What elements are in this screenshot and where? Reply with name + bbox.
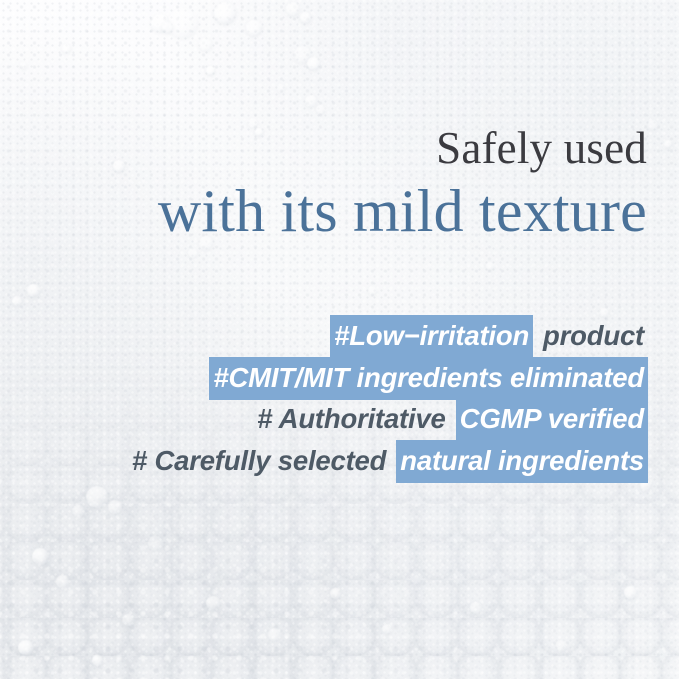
foam-bubble	[294, 46, 311, 63]
foam-bubble	[277, 84, 285, 92]
foam-bubble	[470, 602, 482, 614]
foam-bubble	[168, 8, 198, 38]
highlighted-text-segment: #Low−irritation	[330, 315, 533, 358]
foam-bubble	[307, 57, 320, 70]
foam-bubble	[556, 640, 567, 651]
bullet-line-cmit-mit-eliminated: #CMIT/MIT ingredients eliminated	[128, 364, 648, 392]
foam-bubble	[368, 286, 377, 295]
foam-bubble	[20, 62, 27, 69]
foam-bubble	[113, 160, 125, 172]
highlighted-text-segment: #CMIT/MIT ingredients eliminated	[209, 357, 648, 400]
foam-bubble	[206, 596, 220, 610]
plain-text-segment: # Authoritative	[253, 398, 450, 441]
promotional-banner: Safely used with its mild texture #Low−i…	[0, 0, 679, 679]
headline-line-2: with its mild texture	[158, 181, 647, 241]
foam-bubble	[382, 624, 392, 634]
foam-bubble	[72, 505, 84, 517]
foam-bubble	[300, 12, 311, 23]
foam-bubble	[86, 486, 108, 508]
foam-bubble	[108, 500, 122, 514]
feature-bullet-list: #Low−irritationproduct#CMIT/MIT ingredie…	[128, 322, 648, 474]
foam-bubble	[214, 2, 236, 24]
foam-bubble	[664, 140, 672, 148]
foam-bubble	[122, 614, 134, 626]
foam-bubble	[486, 262, 494, 270]
foam-bubble	[624, 586, 637, 599]
foam-bubble	[12, 296, 22, 306]
foam-bubble	[305, 95, 317, 107]
bullet-line-low-irritation: #Low−irritationproduct	[128, 322, 648, 350]
highlighted-text-segment: natural ingredients	[396, 440, 648, 483]
bullet-line-natural-ingredients: # Carefully selectednatural ingredients	[128, 447, 648, 475]
foam-bubble	[148, 536, 163, 551]
foam-bubble	[188, 248, 198, 258]
foam-bubble	[246, 20, 262, 36]
foam-bubble	[151, 14, 169, 32]
plain-text-segment: product	[539, 315, 648, 358]
foam-bubble	[162, 22, 173, 33]
foam-bubble	[268, 628, 281, 641]
foam-bubble	[206, 66, 215, 75]
foam-bubble	[32, 548, 49, 565]
plain-text-segment: # Carefully selected	[128, 440, 390, 483]
foam-bubble	[18, 640, 33, 655]
foam-bubble	[199, 38, 212, 51]
highlighted-text-segment: CGMP verified	[456, 398, 648, 441]
foam-bubble	[330, 588, 341, 599]
headline-line-1: Safely used	[158, 126, 647, 171]
bullet-line-cgmp-verified: # AuthoritativeCGMP verified	[128, 405, 648, 433]
foam-bubble	[648, 120, 658, 130]
foam-bubble	[316, 105, 325, 114]
foam-bubble	[62, 44, 71, 53]
foam-bubble	[92, 655, 103, 666]
foam-bubble	[286, 2, 300, 16]
foam-bubble	[56, 575, 69, 588]
headline: Safely used with its mild texture	[158, 126, 647, 241]
foam-bubble	[27, 284, 40, 297]
